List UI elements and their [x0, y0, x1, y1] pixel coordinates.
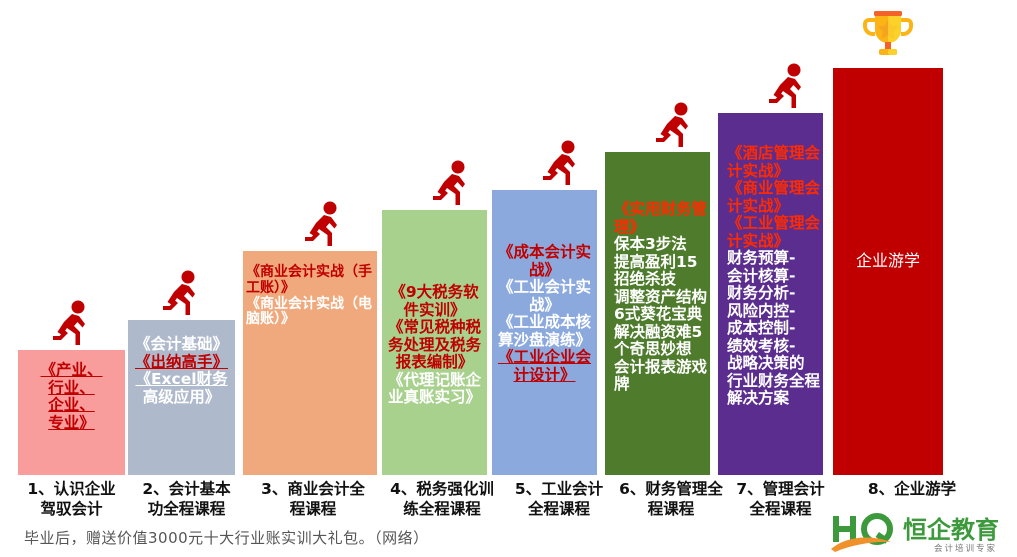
step-bar-2: 《会计基础》 《出纳高手》 《Excel财务 高级应用》 [128, 320, 235, 475]
axis-label-7-line1: 7、管理会计 [722, 480, 839, 500]
axis-label-1: 1、认识企业 驾驭会计 [10, 480, 133, 520]
step-bar-3-text: 《商业会计实战（手 工账）》 《商业会计实战（电 脑账）》 [246, 255, 374, 328]
axis-label-6-line2: 程课程 [606, 500, 736, 520]
step-bar-3: 《商业会计实战（手 工账）》 《商业会计实战（电 脑账）》 [243, 251, 377, 475]
runner-icon-3 [300, 200, 346, 252]
runner-icon-7 [764, 62, 810, 114]
step-bar-7-text: 《酒店管理会 计实战》 《商业管理会 计实战》 《工业管理会 计实战》 财务预算… [721, 117, 820, 408]
runner-icon-4 [428, 159, 474, 211]
step-bar-7: 《酒店管理会 计实战》 《商业管理会 计实战》 《工业管理会 计实战》 财务预算… [718, 113, 823, 475]
step-column-5[interactable]: 《成本会计实 战》 《工业会计实 战》 《工业成本核 算沙盘演练》 《工业企业会… [492, 190, 597, 475]
axis-label-1-line2: 驾驭会计 [10, 500, 133, 520]
axis-label-3-line2: 程课程 [248, 500, 378, 520]
step-bar-1-text: 《产业、 行业、 企业、 专业》 [21, 354, 122, 432]
axis-label-2-line2: 功全程课程 [128, 500, 245, 520]
axis-label-3: 3、商业会计全 程课程 [248, 480, 378, 520]
step-bar-5-text: 《成本会计实 战》 《工业会计实 战》 《工业成本核 算沙盘演练》 《工业企业会… [495, 194, 594, 384]
axis-label-5-line1: 5、工业会计 [503, 480, 615, 500]
step-bar-6: 《实用财务管 理》 保本3步法 提高盈利15 招绝杀技 调整资产结构 6式葵花宝… [605, 152, 710, 475]
axis-label-5: 5、工业会计 全程课程 [503, 480, 615, 520]
step-bar-8: 企业游学 [833, 68, 943, 475]
step-column-6[interactable]: 《实用财务管 理》 保本3步法 提高盈利15 招绝杀技 调整资产结构 6式葵花宝… [605, 152, 710, 475]
runner-icon-2 [158, 269, 204, 321]
axis-label-4-line1: 4、税务强化训 [378, 480, 506, 500]
step-column-2[interactable]: 《会计基础》 《出纳高手》 《Excel财务 高级应用》 [128, 320, 235, 475]
axis-label-8: 8、企业游学 [842, 480, 982, 500]
axis-label-3-line1: 3、商业会计全 [248, 480, 378, 500]
axis-label-6: 6、财务管理全 程课程 [606, 480, 736, 520]
step-bar-2-text: 《会计基础》 《出纳高手》 《Excel财务 高级应用》 [131, 324, 232, 406]
step-bar-6-text: 《实用财务管 理》 保本3步法 提高盈利15 招绝杀技 调整资产结构 6式葵花宝… [608, 156, 707, 394]
trophy-icon [857, 5, 919, 65]
runner-icon-6 [651, 101, 697, 153]
step-bar-8-text: 企业游学 [836, 72, 940, 270]
axis-label-8-line1: 8、企业游学 [842, 480, 982, 500]
runner-icon-1 [48, 299, 94, 351]
axis-label-2: 2、会计基本 功全程课程 [128, 480, 245, 520]
step-column-4[interactable]: 《9大税务软 件实训》 《常见税种税 务处理及税务 报表编制》 《代理记账企 业… [382, 210, 487, 475]
axis-label-5-line2: 全程课程 [503, 500, 615, 520]
step-bar-4-text: 《9大税务软 件实训》 《常见税种税 务处理及税务 报表编制》 《代理记账企 业… [385, 214, 484, 407]
step-column-8[interactable]: 企业游学 [833, 68, 943, 475]
axis-label-6-line1: 6、财务管理全 [606, 480, 736, 500]
axis-label-2-line1: 2、会计基本 [128, 480, 245, 500]
logo-name: 恒企教育 [903, 516, 999, 544]
logo-tagline: 会计培训专家 [934, 543, 997, 554]
step-bar-4: 《9大税务软 件实训》 《常见税种税 务处理及税务 报表编制》 《代理记账企 业… [382, 210, 487, 475]
axis-label-7: 7、管理会计 全程课程 [722, 480, 839, 520]
step-column-3[interactable]: 《商业会计实战（手 工账）》 《商业会计实战（电 脑账）》 [243, 251, 377, 475]
step-bar-5: 《成本会计实 战》 《工业会计实 战》 《工业成本核 算沙盘演练》 《工业企业会… [492, 190, 597, 475]
axis-label-4: 4、税务强化训 练全程课程 [378, 480, 506, 520]
step-column-7[interactable]: 《酒店管理会 计实战》 《商业管理会 计实战》 《工业管理会 计实战》 财务预算… [718, 113, 823, 475]
runner-icon-5 [538, 139, 584, 191]
staircase-chart: 《产业、 行业、 企业、 专业》 《会计基础》 《出纳高手》 《Excel财务 … [0, 0, 1017, 557]
axis-label-7-line2: 全程课程 [722, 500, 839, 520]
axis-label-4-line2: 练全程课程 [378, 500, 506, 520]
step-column-1[interactable]: 《产业、 行业、 企业、 专业》 [18, 350, 125, 475]
brand-logo: 恒企教育 会计培训专家 [829, 512, 1009, 556]
footnote-text: 毕业后，赠送价值3000元十大行业账实训大礼包。（网络） [24, 527, 429, 548]
step-bar-1: 《产业、 行业、 企业、 专业》 [18, 350, 125, 475]
axis-label-1-line1: 1、认识企业 [10, 480, 133, 500]
